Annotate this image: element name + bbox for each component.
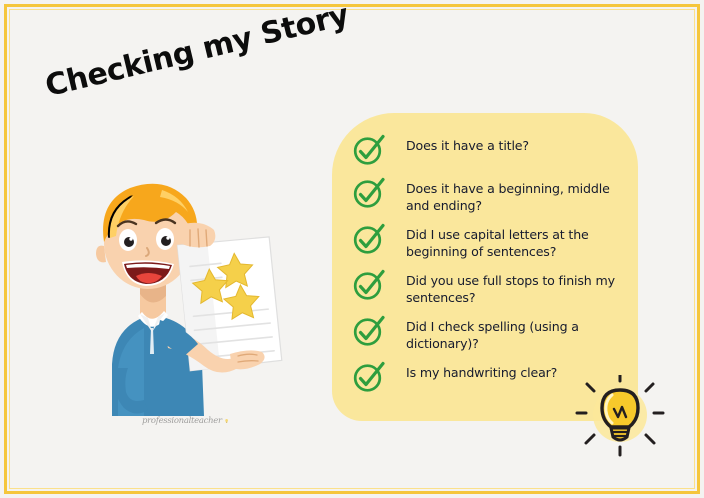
list-item-label: Does it have a beginning, middle and end… (406, 177, 630, 214)
check-circle-icon (352, 223, 386, 255)
watermark: professionalteacher (142, 409, 228, 433)
list-item-label: Did I use capital letters at the beginni… (406, 223, 630, 260)
lightbulb-icon (225, 412, 228, 430)
poster-canvas: Checking my Story (0, 0, 704, 498)
list-item-label: Did I check spelling (using a dictionary… (406, 315, 630, 352)
page-title: Checking my Story (42, 0, 352, 104)
boy-holding-paper-illustration (52, 168, 292, 418)
check-circle-icon (352, 269, 386, 301)
checklist: Does it have a title? Does it have a beg… (352, 134, 630, 404)
list-item[interactable]: Does it have a beginning, middle and end… (352, 177, 630, 214)
check-circle-icon (352, 361, 386, 393)
check-circle-icon (352, 315, 386, 347)
list-item-label: Does it have a title? (406, 134, 630, 155)
list-item[interactable]: Does it have a title? (352, 134, 630, 168)
list-item-label: Did you use full stops to finish my sent… (406, 269, 630, 306)
list-item[interactable]: Did I use capital letters at the beginni… (352, 223, 630, 260)
lightbulb-icon (572, 375, 668, 461)
check-circle-icon (352, 134, 386, 166)
watermark-text: professionalteacher (142, 416, 222, 426)
list-item[interactable]: Did I check spelling (using a dictionary… (352, 315, 630, 352)
check-circle-icon (352, 177, 386, 209)
list-item[interactable]: Did you use full stops to finish my sent… (352, 269, 630, 306)
